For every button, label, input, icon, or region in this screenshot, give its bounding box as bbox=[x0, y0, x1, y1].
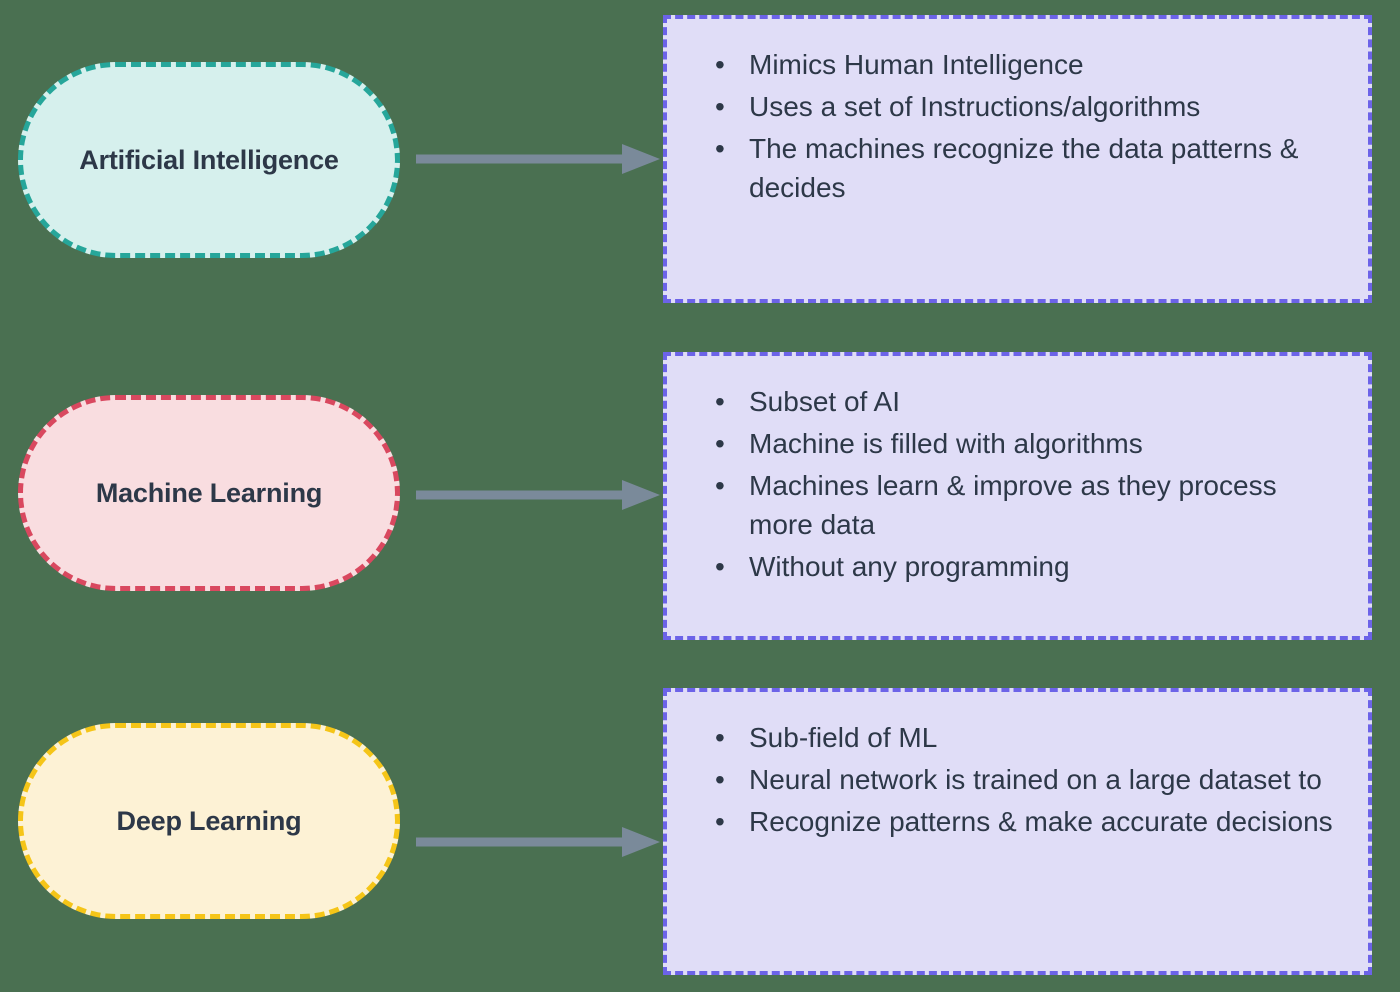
list-item-text: Sub-field of ML bbox=[749, 722, 937, 753]
node-deep-learning[interactable]: Deep Learning bbox=[18, 723, 400, 919]
bullet-icon: • bbox=[715, 760, 725, 800]
list-item: •Machine is filled with algorithms bbox=[697, 424, 1338, 464]
list-item: •Recognize patterns & make accurate deci… bbox=[697, 802, 1338, 842]
bullet-icon: • bbox=[715, 802, 725, 842]
bullet-icon: • bbox=[715, 45, 725, 85]
arrow-right-icon bbox=[414, 825, 664, 859]
node-artificial-intelligence[interactable]: Artificial Intelligence bbox=[18, 62, 400, 258]
list-item-text: Subset of AI bbox=[749, 386, 900, 417]
description-card-deep-learning: •Sub-field of ML •Neural network is trai… bbox=[663, 688, 1372, 975]
bullet-list: •Mimics Human Intelligence •Uses a set o… bbox=[697, 45, 1338, 208]
list-item-text: Mimics Human Intelligence bbox=[749, 49, 1084, 80]
list-item-text: Machine is filled with algorithms bbox=[749, 428, 1143, 459]
list-item: •Machines learn & improve as they proces… bbox=[697, 466, 1338, 546]
arrow-right-icon bbox=[414, 142, 664, 176]
list-item: •Neural network is trained on a large da… bbox=[697, 760, 1338, 800]
bullet-list: •Subset of AI •Machine is filled with al… bbox=[697, 382, 1338, 587]
node-machine-learning[interactable]: Machine Learning bbox=[18, 395, 400, 591]
bullet-icon: • bbox=[715, 129, 725, 169]
node-label: Machine Learning bbox=[82, 478, 336, 509]
diagram-row-artificial-intelligence: Artificial Intelligence •Mimics Human In… bbox=[0, 0, 1400, 330]
bullet-icon: • bbox=[715, 87, 725, 127]
list-item-text: Uses a set of Instructions/algorithms bbox=[749, 91, 1200, 122]
list-item-text: The machines recognize the data patterns… bbox=[749, 133, 1298, 204]
bullet-list: •Sub-field of ML •Neural network is trai… bbox=[697, 718, 1338, 841]
list-item: •Sub-field of ML bbox=[697, 718, 1338, 758]
list-item: •Subset of AI bbox=[697, 382, 1338, 422]
arrow-right-icon bbox=[414, 478, 664, 512]
bullet-icon: • bbox=[715, 466, 725, 506]
diagram-row-deep-learning: Deep Learning •Sub-field of ML •Neural n… bbox=[0, 673, 1400, 992]
diagram-row-machine-learning: Machine Learning •Subset of AI •Machine … bbox=[0, 337, 1400, 667]
bullet-icon: • bbox=[715, 547, 725, 587]
list-item: •Uses a set of Instructions/algorithms bbox=[697, 87, 1338, 127]
ai-ml-dl-diagram: Artificial Intelligence •Mimics Human In… bbox=[0, 0, 1400, 992]
node-label: Deep Learning bbox=[103, 806, 316, 837]
list-item-text: Recognize patterns & make accurate decis… bbox=[749, 806, 1333, 837]
bullet-icon: • bbox=[715, 424, 725, 464]
description-card-artificial-intelligence: •Mimics Human Intelligence •Uses a set o… bbox=[663, 15, 1372, 303]
description-card-machine-learning: •Subset of AI •Machine is filled with al… bbox=[663, 352, 1372, 640]
list-item-text: Neural network is trained on a large dat… bbox=[749, 764, 1322, 795]
bullet-icon: • bbox=[715, 382, 725, 422]
list-item: •Without any programming bbox=[697, 547, 1338, 587]
node-label: Artificial Intelligence bbox=[65, 145, 352, 176]
list-item-text: Machines learn & improve as they process… bbox=[749, 470, 1277, 541]
list-item-text: Without any programming bbox=[749, 551, 1070, 582]
list-item: •The machines recognize the data pattern… bbox=[697, 129, 1338, 209]
bullet-icon: • bbox=[715, 718, 725, 758]
list-item: •Mimics Human Intelligence bbox=[697, 45, 1338, 85]
